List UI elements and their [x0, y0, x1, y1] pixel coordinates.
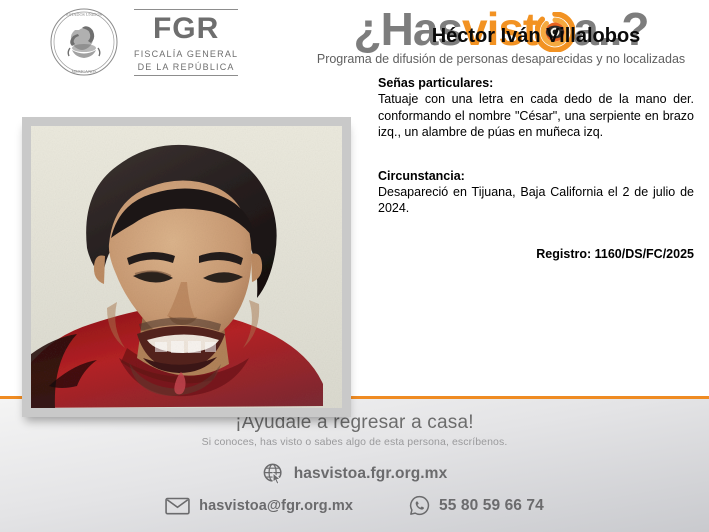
poster-footer: ¡Ayúdale a regresar a casa! Si conoces, …: [0, 399, 709, 532]
senas-particulares-section: Señas particulares: Tatuaje con una letr…: [378, 75, 694, 141]
registro-number: Registro: 1160/DS/FC/2025: [378, 247, 694, 261]
email-text[interactable]: hasvistoa@fgr.org.mx: [199, 498, 353, 514]
circunstancia-label: Circunstancia:: [378, 168, 694, 184]
senas-particulares-text: Tatuaje con una letra en cada dedo de la…: [378, 91, 694, 141]
contact-row-email-phone: hasvistoa@fgr.org.mx 55 80 59 66 74: [0, 495, 709, 516]
person-photo: [31, 126, 342, 408]
circunstancia-section: Circunstancia: Desapareció en Tijuana, B…: [378, 168, 694, 217]
circunstancia-text: Desapareció en Tijuana, Baja California …: [378, 184, 694, 217]
svg-text:MEXICANOS: MEXICANOS: [72, 69, 98, 74]
website-text[interactable]: hasvistoa.fgr.org.mx: [294, 465, 448, 483]
fgr-name-line1: FISCALÍA GENERAL: [134, 47, 238, 60]
person-info: Héctor Iván Villalobos Señas particulare…: [378, 24, 694, 261]
phone-text[interactable]: 55 80 59 66 74: [439, 497, 544, 515]
fgr-acronym: FGR: [134, 10, 238, 47]
whatsapp-icon: [409, 495, 430, 516]
fgr-rule-bottom: [134, 75, 238, 76]
envelope-icon: [165, 497, 190, 515]
fgr-name-line2: DE LA REPÚBLICA: [134, 60, 238, 73]
globe-cursor-icon: [262, 462, 285, 485]
missing-person-poster: ESTADOS UNIDOS MEXICANOS FGR: [0, 0, 709, 532]
footer-subtext: Si conoces, has visto o sabes algo de es…: [0, 435, 709, 449]
senas-particulares-label: Señas particulares:: [378, 75, 694, 91]
phone-item: 55 80 59 66 74: [409, 495, 544, 516]
person-photo-frame: [22, 117, 351, 417]
fgr-wordmark: FGR FISCALÍA GENERAL DE LA REPÚBLICA: [130, 9, 238, 76]
email-item: hasvistoa@fgr.org.mx: [165, 497, 353, 515]
website-row: hasvistoa.fgr.org.mx: [0, 462, 709, 485]
svg-text:ESTADOS UNIDOS: ESTADOS UNIDOS: [66, 12, 102, 17]
fgr-institutional-lockup: ESTADOS UNIDOS MEXICANOS FGR: [48, 6, 238, 78]
mexican-national-seal-icon: ESTADOS UNIDOS MEXICANOS: [48, 6, 120, 78]
page-title: Héctor Iván Villalobos: [378, 24, 694, 48]
